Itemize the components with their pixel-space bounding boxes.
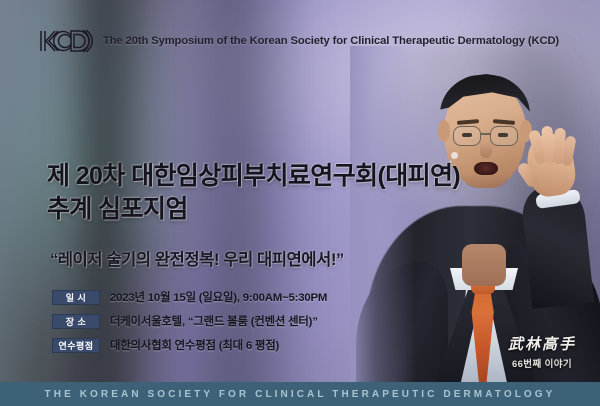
info-badge-venue: 장 소 <box>52 314 100 329</box>
bottom-banner: THE KOREAN SOCIETY FOR CLINICAL THERAPEU… <box>0 382 600 406</box>
info-row-credits: 연수평점 대한의사협회 연수평점 (최대 6 평점) <box>52 337 327 353</box>
poster-title: 제 20차 대한임상피부치료연구회(대피연) 추계 심포지엄 <box>47 160 447 226</box>
poster-subtitle: “레이저 술기의 완전정복! 우리 대피연에서!” <box>50 246 344 270</box>
speaker-neck <box>462 244 506 286</box>
speaker-eyeglass-left <box>453 126 481 146</box>
calligraphy-signature: 武林高手 66번째 이야기 <box>508 336 576 370</box>
speaker-nose <box>480 142 492 158</box>
header-tagline: The 20th Symposium of the Korean Society… <box>103 35 559 47</box>
kcd-logo-icon <box>38 28 94 54</box>
poster-header: The 20th Symposium of the Korean Society… <box>38 28 559 54</box>
symposium-poster: The 20th Symposium of the Korean Society… <box>0 0 600 406</box>
info-row-venue: 장 소 더케이서울호텔, “그랜드 볼룸 (컨벤션 센터)” <box>52 313 327 329</box>
info-badge-credits: 연수평점 <box>52 338 100 353</box>
speaker-chin <box>462 174 510 188</box>
signature-sub-text: 66번째 이야기 <box>508 356 576 370</box>
speaker-eyeglass-bridge <box>481 133 490 135</box>
info-value-venue: 더케이서울호텔, “그랜드 볼룸 (컨벤션 센터)” <box>110 313 318 329</box>
signature-main-text: 武林高手 <box>508 336 576 353</box>
info-value-date: 2023년 10월 15일 (일요일), 9:00AM~5:30PM <box>110 289 327 305</box>
speaker-eyeglass-right <box>490 126 518 146</box>
speaker-ear-left <box>438 120 450 142</box>
banner-society-name: THE KOREAN SOCIETY FOR CLINICAL THERAPEU… <box>45 389 556 400</box>
info-value-credits: 대한의사협회 연수평점 (최대 6 평점) <box>110 337 279 353</box>
speaker-headset-microphone <box>451 152 458 159</box>
event-info-list: 일 시 2023년 10월 15일 (일요일), 9:00AM~5:30PM 장… <box>52 289 327 353</box>
info-badge-date: 일 시 <box>52 290 100 305</box>
info-row-date: 일 시 2023년 10월 15일 (일요일), 9:00AM~5:30PM <box>52 289 327 305</box>
title-line-1: 제 20차 대한임상피부치료연구회(대피연) <box>47 160 447 193</box>
title-line-2: 추계 심포지엄 <box>47 193 447 226</box>
